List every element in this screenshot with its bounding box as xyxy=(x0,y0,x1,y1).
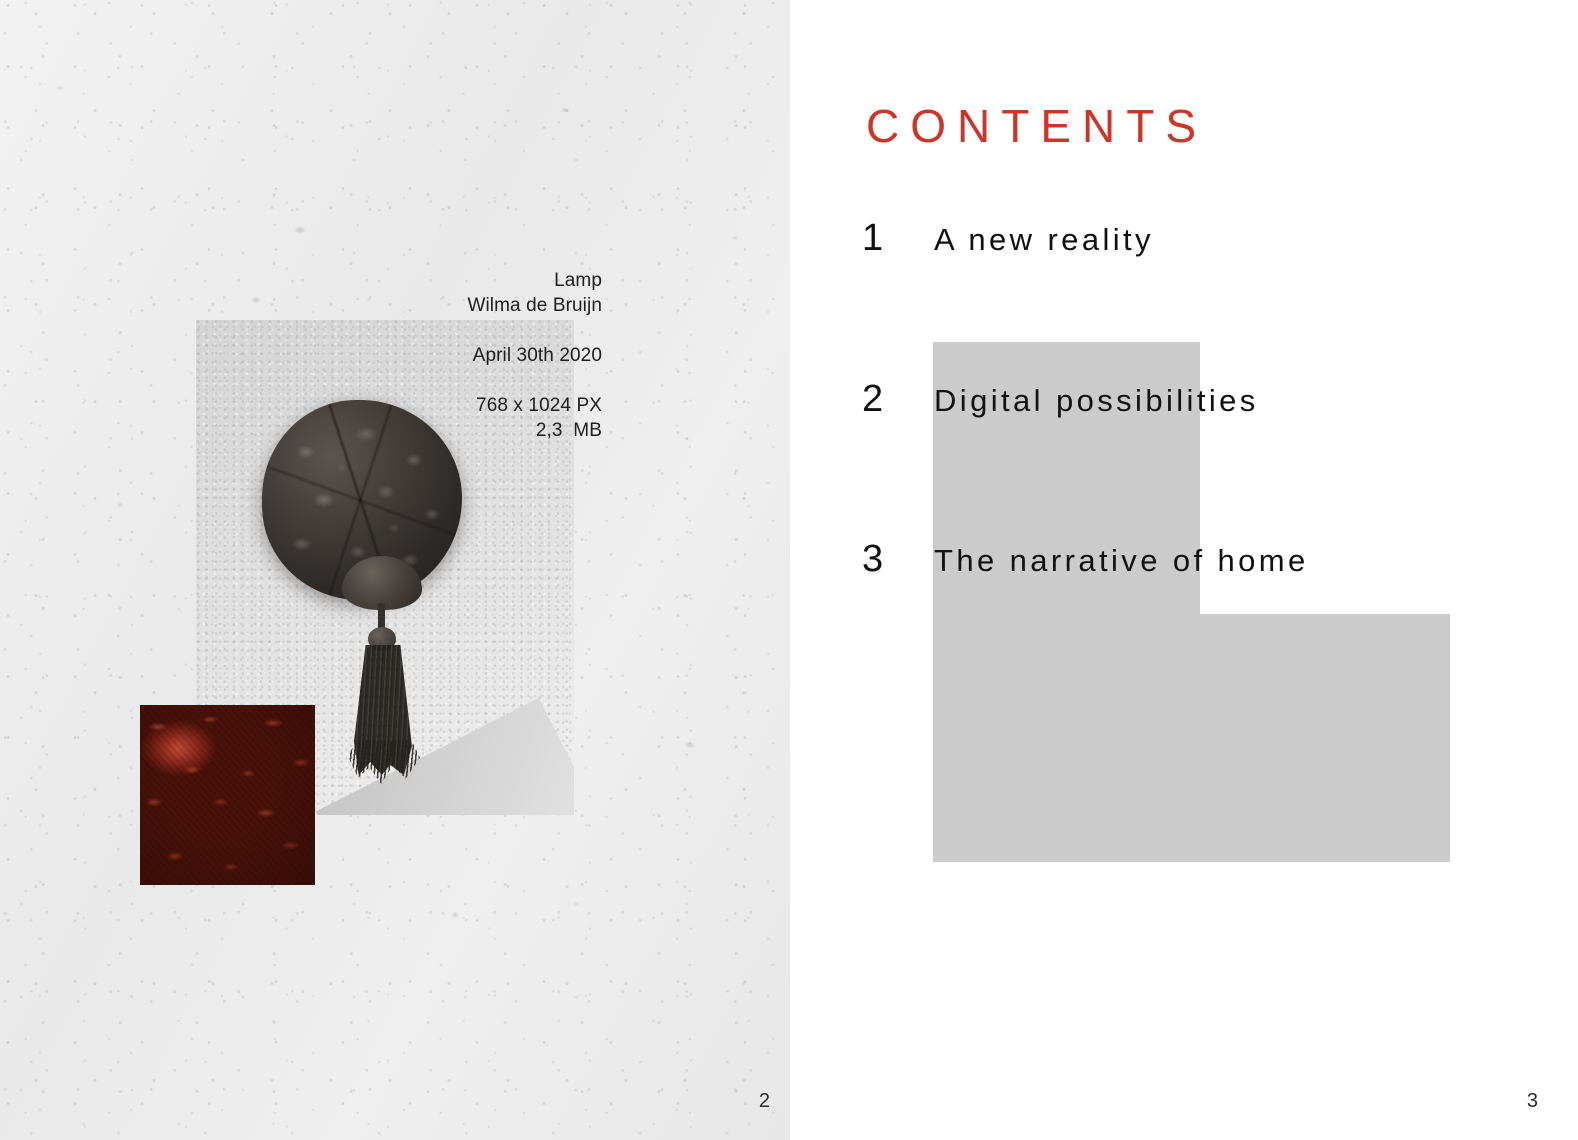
toc-item-1-number: 1 xyxy=(862,216,934,260)
toc-item-2-label: Digital possibilities xyxy=(934,379,1259,423)
left-page: Lamp Wilma de Bruijn April 30th 2020 768… xyxy=(0,0,790,1140)
toc-item-3-label: The narrative of home xyxy=(934,539,1309,583)
photo-metadata: Lamp Wilma de Bruijn April 30th 2020 768… xyxy=(467,268,602,443)
table-of-contents-list: 1 A new reality 2 Digital possibilities … xyxy=(790,0,1578,1140)
photo-filesize: 2,3 MB xyxy=(467,418,602,443)
photo-dimensions: 768 x 1024 PX xyxy=(467,393,602,418)
toc-item-2[interactable]: 2 Digital possibilities xyxy=(862,377,1259,423)
photo-date: April 30th 2020 xyxy=(467,343,602,368)
photo-author: Wilma de Bruijn xyxy=(467,293,602,318)
red-fabric-swatch xyxy=(140,705,315,885)
toc-item-3-number: 3 xyxy=(862,537,934,581)
meta-spacer-2 xyxy=(467,368,602,393)
meta-spacer-1 xyxy=(467,318,602,343)
page-number-left: 2 xyxy=(742,1090,770,1113)
fabric-vignette xyxy=(140,705,315,885)
presentation-spread: Lamp Wilma de Bruijn April 30th 2020 768… xyxy=(0,0,1578,1140)
right-page: CONTENTS 1 A new reality 2 Digital possi… xyxy=(790,0,1578,1140)
toc-item-1[interactable]: 1 A new reality xyxy=(862,216,1154,262)
page-number-right: 3 xyxy=(1508,1090,1538,1113)
toc-item-2-number: 2 xyxy=(862,377,934,421)
toc-item-3[interactable]: 3 The narrative of home xyxy=(862,537,1309,583)
toc-item-1-label: A new reality xyxy=(934,218,1154,262)
photo-title: Lamp xyxy=(467,268,602,293)
